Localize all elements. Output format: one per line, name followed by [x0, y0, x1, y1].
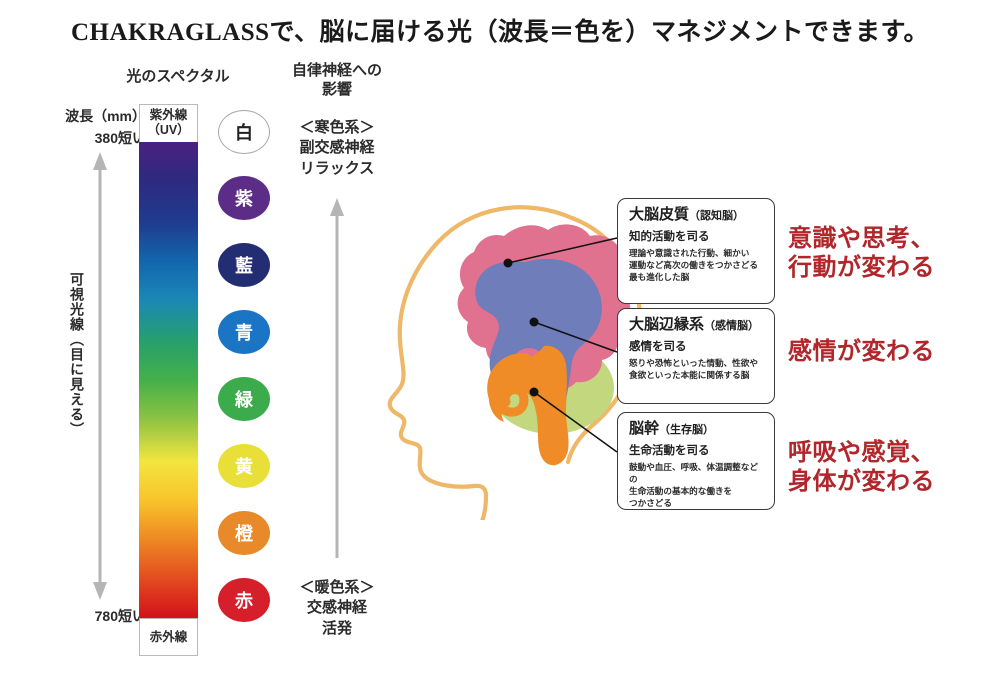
callout-limbic-system: 大脳辺縁系（感情脳） 感情を司る 怒りや恐怖といった情動、性欲や 食欲といった本… — [617, 308, 775, 404]
result-message-brainstem: 呼吸や感覚、 身体が変わる — [788, 438, 935, 497]
callout-brainstem: 脳幹（生存脳） 生命活動を司る 鼓動や血圧、呼吸、体温調整などの 生命活動の基本… — [617, 412, 775, 510]
callout-desc-limbic: 怒りや恐怖といった情動、性欲や 食欲といった本能に関係する脳 — [629, 357, 764, 381]
result-message-limbic: 感情が変わる — [788, 337, 935, 366]
callout-lead-limbic: 感情を司る — [629, 340, 764, 354]
result-message-cortex: 意識や思考、 行動が変わる — [788, 224, 935, 283]
callout-desc-brainstem: 鼓動や血圧、呼吸、体温調整などの 生命活動の基本的な働きを つかさどる — [629, 461, 764, 510]
callout-title-limbic: 大脳辺縁系（感情脳） — [629, 317, 764, 334]
callout-title-brainstem: 脳幹（生存脳） — [629, 421, 764, 438]
leader-line-limbic — [534, 322, 617, 352]
callout-lead-brainstem: 生命活動を司る — [629, 444, 764, 458]
callout-cerebral-cortex: 大脳皮質（認知脳） 知的活動を司る 理論や意識された行動、細かい 運動など高次の… — [617, 198, 775, 304]
leader-line-brainstem — [534, 392, 617, 452]
infographic-canvas: CHAKRAGLASSで、脳に届ける光（波長＝色を）マネジメントできます。 光の… — [0, 0, 1000, 681]
leader-line-cortex — [508, 238, 617, 263]
callout-desc-cortex: 理論や意識された行動、細かい 運動など高次の働きをつかさどる 最も進化した脳 — [629, 247, 764, 284]
callout-lead-cortex: 知的活動を司る — [629, 230, 764, 244]
callout-title-cortex: 大脳皮質（認知脳） — [629, 207, 764, 224]
